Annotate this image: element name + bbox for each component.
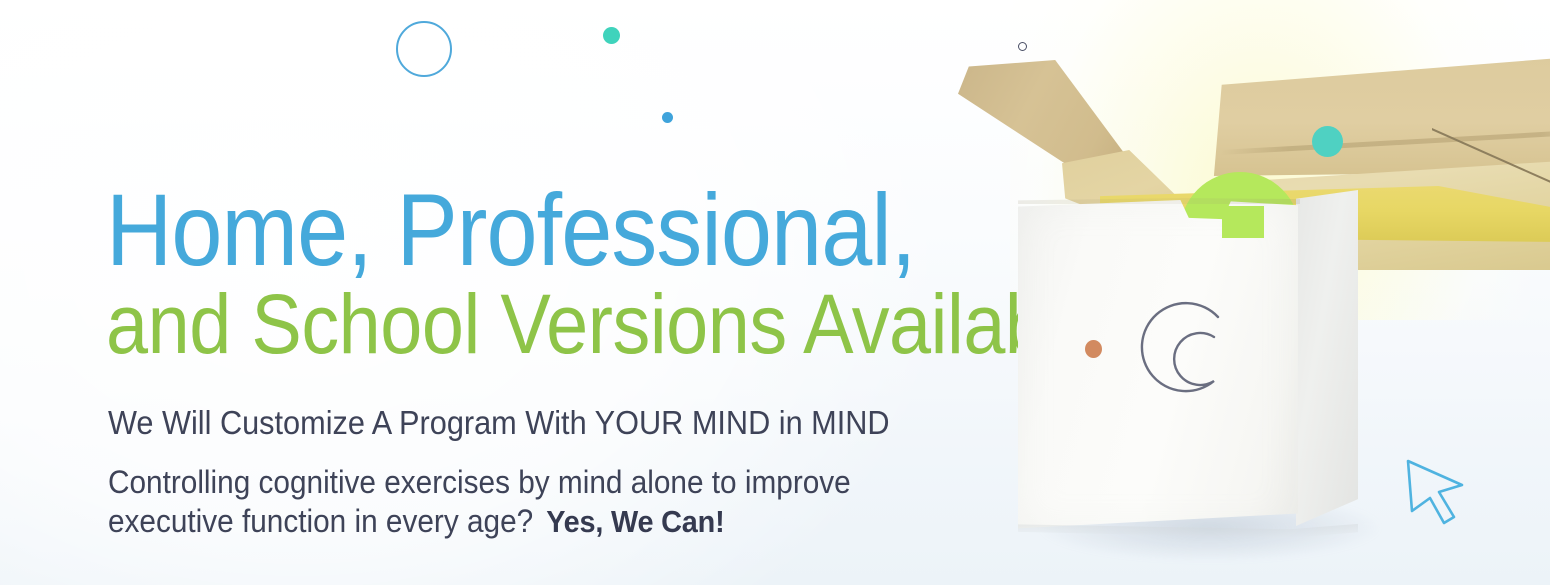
- box-flap-edge-right: [1432, 128, 1550, 186]
- green-dome-notch: [1222, 206, 1264, 238]
- box-top-rim: [1018, 198, 1300, 204]
- body-copy-line-2: executive function in every age?: [108, 503, 533, 539]
- headline-line-secondary: and School Versions Available: [106, 282, 970, 368]
- body-copy-line-2-wrap: executive function in every age?Yes, We …: [108, 502, 1038, 541]
- small-blue-dot-icon: [662, 112, 673, 123]
- box-side-panel: [1296, 190, 1358, 526]
- spiral-logo-icon: [1126, 292, 1260, 426]
- product-image-open-box: [940, 0, 1550, 585]
- emphasis-text: Yes, We Can!: [533, 504, 724, 539]
- hero-banner: Home, Professional, and School Versions …: [0, 0, 1550, 585]
- body-copy-line-1: Controlling cognitive exercises by mind …: [108, 463, 1038, 502]
- subheadline: We Will Customize A Program With YOUR MI…: [108, 404, 890, 442]
- page-title: Home, Professional, and School Versions …: [106, 182, 1066, 368]
- teal-dot-on-flap-icon: [1312, 126, 1343, 157]
- pointer-cursor-icon[interactable]: [1402, 455, 1480, 533]
- headline-line-primary: Home, Professional,: [106, 182, 970, 280]
- orange-dot-icon: [1085, 340, 1102, 358]
- large-blue-ring-icon: [396, 21, 452, 77]
- teal-dot-icon: [603, 27, 620, 44]
